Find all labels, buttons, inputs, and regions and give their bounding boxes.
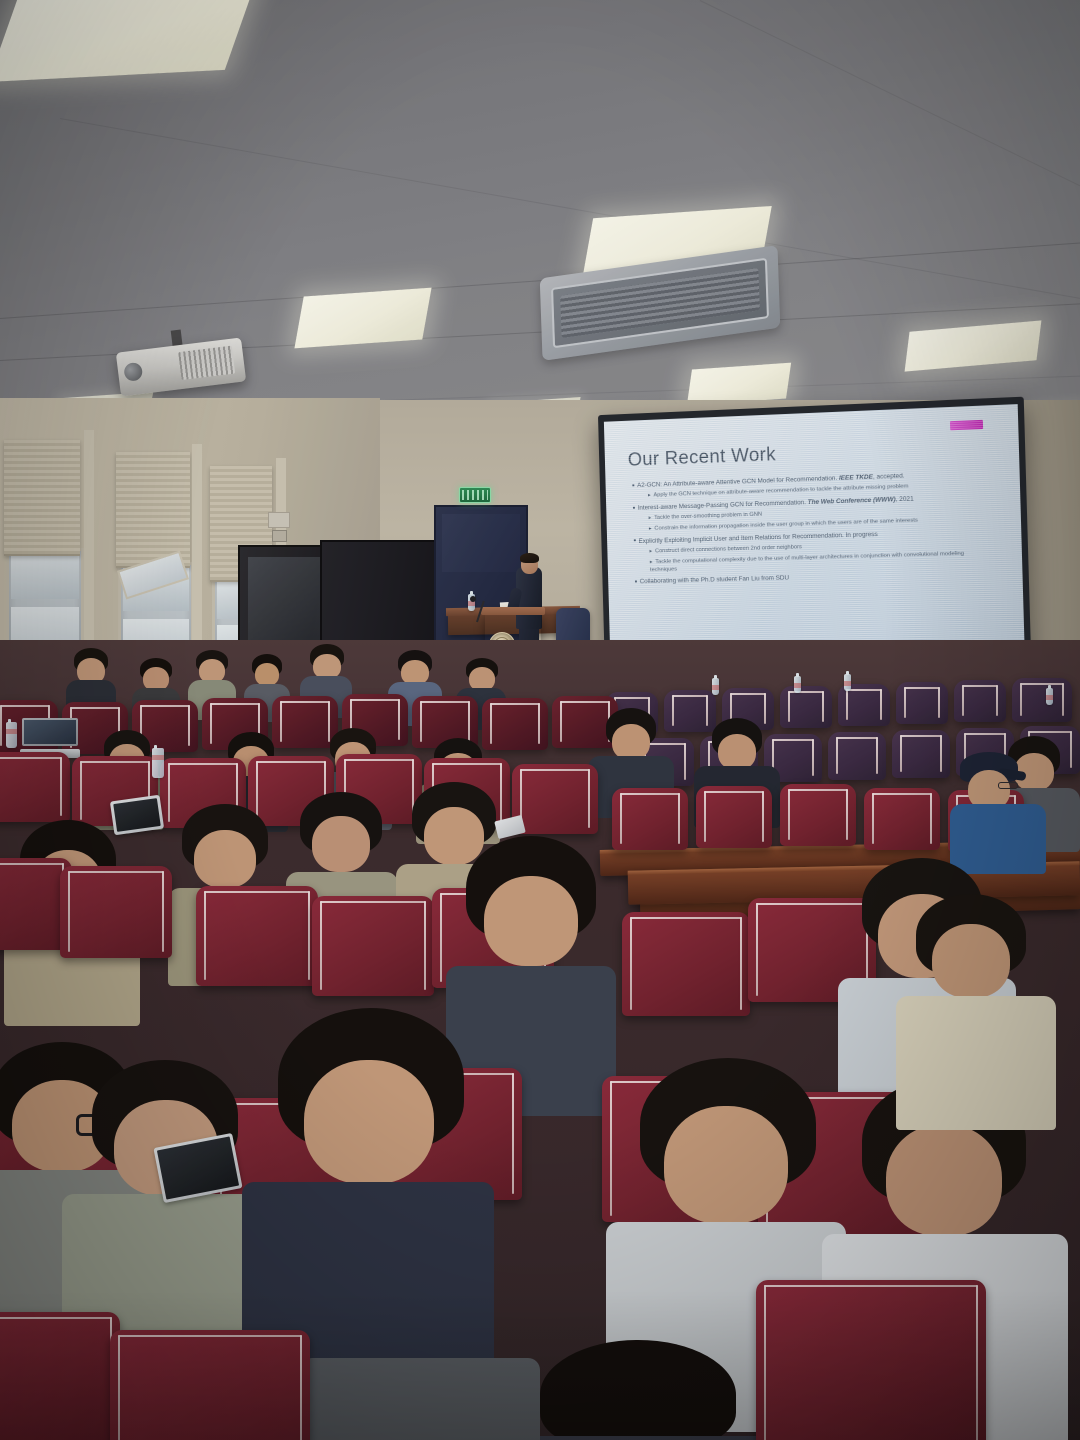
window-blind: [4, 440, 80, 556]
bullet-dot-icon: [632, 484, 634, 486]
bullet-dot-icon: [635, 581, 637, 583]
auditorium-seat[interactable]: [272, 696, 338, 748]
auditorium-seat[interactable]: [664, 690, 716, 732]
slide-accent-bar: [950, 420, 983, 430]
water-bottle: [6, 722, 17, 748]
projector-vent: [178, 346, 235, 380]
auditorium-seat[interactable]: [756, 1280, 986, 1440]
sub-bullet-arrow-icon: ▸: [649, 515, 652, 523]
presenter-hair: [520, 553, 539, 563]
auditorium-seat[interactable]: [864, 788, 940, 850]
exit-sign-glyph: [462, 490, 488, 500]
auditorium-seat[interactable]: [312, 896, 434, 996]
lecture-hall-photo: Our Recent Work A2-GCN: An Attribute-awa…: [0, 0, 1080, 1440]
auditorium-seat[interactable]: [780, 686, 832, 728]
auditorium-seat[interactable]: [60, 866, 172, 958]
auditorium-seat[interactable]: [696, 786, 772, 848]
ceiling-light-panel: [0, 0, 256, 82]
water-bottle: [794, 676, 801, 693]
projector-lens: [123, 362, 143, 382]
auditorium-seat[interactable]: [892, 730, 950, 778]
eyeglasses-icon: [998, 782, 1018, 789]
auditorium-seat[interactable]: [828, 732, 886, 780]
auditorium-seat[interactable]: [0, 752, 70, 822]
water-bottle: [1046, 688, 1053, 705]
auditorium-seat[interactable]: [512, 764, 598, 834]
ceiling-light-panel: [294, 288, 431, 349]
handheld-tablet[interactable]: [110, 795, 164, 836]
auditorium-seat[interactable]: [954, 680, 1006, 722]
sub-bullet-arrow-icon: ▸: [650, 559, 653, 567]
auditorium-seat[interactable]: [622, 912, 750, 1016]
wall-switch-plate[interactable]: [268, 512, 290, 528]
auditorium-seating-area: [0, 640, 1080, 1440]
water-bottle: [712, 678, 719, 695]
auditorium-seat[interactable]: [780, 784, 856, 846]
auditorium-seat[interactable]: [612, 788, 688, 850]
ceiling-light-panel: [687, 363, 791, 406]
exit-sign: [459, 487, 491, 503]
sub-bullet-arrow-icon: ▸: [648, 493, 651, 501]
water-bottle: [152, 748, 164, 778]
slide-title: Our Recent Work: [628, 435, 1001, 471]
sub-bullet-arrow-icon: ▸: [649, 548, 652, 556]
bullet-dot-icon: [634, 540, 636, 542]
auditorium-seat[interactable]: [482, 698, 548, 750]
microphone-head-icon: [470, 596, 476, 602]
wall-switch-plate[interactable]: [272, 530, 287, 542]
bullet-dot-icon: [633, 507, 635, 509]
auditorium-seat[interactable]: [110, 1330, 310, 1440]
auditorium-seat[interactable]: [1012, 678, 1072, 722]
podium-top-surface: [481, 607, 545, 615]
auditorium-seat[interactable]: [196, 886, 318, 986]
water-bottle: [844, 674, 851, 691]
sub-bullet-arrow-icon: ▸: [649, 526, 652, 534]
door-upper-panel: [442, 514, 520, 572]
auditorium-seat[interactable]: [896, 682, 948, 724]
auditorium-seat[interactable]: [0, 1312, 120, 1440]
